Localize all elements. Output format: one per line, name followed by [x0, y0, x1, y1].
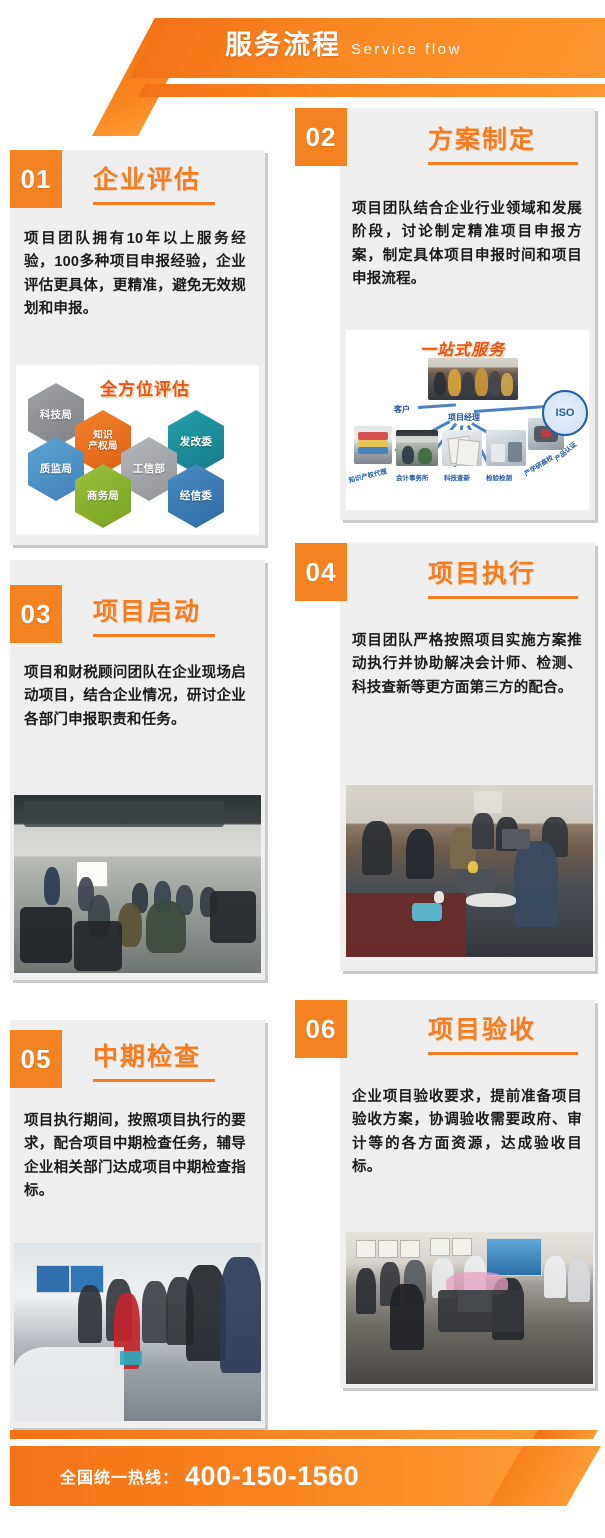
hex-diagram-title: 全方位评估 — [100, 375, 190, 400]
footer-hotline-number[interactable]: 400-150-1560 — [185, 1461, 359, 1492]
header-title-group: 服务流程 Service flow — [225, 32, 605, 76]
photo-certificate-3 — [430, 1238, 450, 1256]
hex-node-1-label: 知识产权局 — [88, 431, 117, 453]
page-footer: 全国统一热线： 400-150-1560 — [0, 1418, 605, 1538]
step-body-05: 项目执行期间，按照项目执行的要求，配合项目中期检查任务，辅导企业相关部门达成项目… — [24, 1110, 246, 1204]
step-body-02: 项目团队结合企业行业领域和发展阶段，讨论制定精准项目申报方案，制定具体项目申报时… — [352, 198, 582, 292]
one-stop-service-photo-3 — [486, 430, 526, 466]
step-title-03: 项目启动 — [93, 600, 201, 625]
one-stop-label-2: 科技查新 — [444, 472, 470, 482]
step-number-badge-02: 02 — [295, 108, 347, 166]
page-subtitle: Service flow — [351, 41, 462, 58]
header-accent-stripe — [138, 84, 605, 97]
step-title-underline-01 — [93, 202, 215, 205]
one-stop-service-photo-2 — [442, 430, 482, 466]
one-stop-node-customer: 客户 — [394, 404, 410, 415]
hexagon-assessment-diagram: 全方位评估 科技局 知识产权局 发改委 质监局 工信部 商务局 经信委 — [16, 365, 259, 535]
one-stop-label-4: 产学研高校 — [522, 452, 555, 478]
one-stop-label-1: 会计事务所 — [396, 472, 429, 482]
step-title-underline-04 — [428, 596, 578, 599]
footer-hotline-label: 全国统一热线： — [60, 1464, 179, 1488]
one-stop-service-diagram: 一站式服务 客户 项目经理 — [346, 330, 589, 510]
page-title: 服务流程 — [225, 32, 341, 59]
step-number-badge-03: 03 — [10, 585, 62, 643]
photo-team-working-meeting — [346, 785, 593, 957]
footer-thin-stripe — [10, 1430, 550, 1439]
photo-certificate-2 — [400, 1240, 420, 1258]
step-number-badge-05: 05 — [10, 1030, 62, 1088]
one-stop-title: 一站式服务 — [420, 336, 505, 360]
one-stop-arrow-customer — [418, 403, 456, 409]
one-stop-service-photo-1 — [396, 430, 438, 466]
step-title-05: 中期检查 — [93, 1045, 201, 1070]
footer-hotline-group: 全国统一热线： 400-150-1560 — [60, 1446, 359, 1506]
step-number-badge-04: 04 — [295, 543, 347, 601]
step-number-badge-01: 01 — [10, 150, 62, 208]
step-body-06: 企业项目验收要求，提前准备项目验收方案，协调验收需要政府、审计等的各方面资源，达… — [352, 1086, 582, 1180]
step-title-06: 项目验收 — [428, 1018, 536, 1043]
one-stop-node-manager: 项目经理 — [448, 412, 480, 423]
step-title-underline-02 — [428, 162, 578, 165]
step-body-04: 项目团队严格按照项目实施方案推动执行并协助解决会计师、检测、科技查新等更方面第三… — [352, 630, 582, 700]
photo-certificate-1 — [378, 1240, 398, 1258]
service-flow-infographic: 服务流程 Service flow 01 企业评估 项目团队拥有10年以上服务经… — [0, 0, 605, 1538]
photo-acceptance-boardroom — [346, 1232, 593, 1384]
footer-thin-stripe-skew — [533, 1430, 598, 1439]
step-title-underline-03 — [93, 634, 215, 637]
photo-presentation-screen — [486, 1238, 542, 1276]
step-title-01: 企业评估 — [93, 168, 201, 193]
photo-site-inspection-lobby — [14, 1243, 261, 1421]
step-title-02: 方案制定 — [428, 128, 536, 153]
step-title-underline-06 — [428, 1052, 578, 1055]
photo-laptop-boardroom — [458, 1290, 492, 1312]
one-stop-label-0: 知识产权代理 — [347, 465, 387, 484]
photo-certificate-4 — [452, 1238, 472, 1256]
step-body-01: 项目团队拥有10年以上服务经验，100多种项目申报经验，企业评估更具体，更精准，… — [24, 228, 246, 322]
step-number-badge-06: 06 — [295, 1000, 347, 1058]
step-title-underline-05 — [93, 1079, 215, 1082]
photo-conference-room-kickoff — [14, 795, 261, 973]
one-stop-center-photo — [428, 358, 518, 400]
one-stop-certification-seal: ISO — [542, 390, 588, 436]
step-title-04: 项目执行 — [428, 562, 536, 587]
photo-certificate-0 — [356, 1240, 376, 1258]
photo-laptop-1 — [502, 829, 530, 849]
one-stop-label-3: 检验检测 — [486, 472, 512, 482]
one-stop-arrow-5 — [474, 405, 546, 413]
one-stop-service-photo-0 — [354, 426, 392, 464]
photo-ceiling-panel — [24, 801, 224, 827]
photo-wall-screen-0 — [36, 1265, 70, 1293]
step-body-03: 项目和财税顾问团队在企业现场启动项目，结合企业情况，研讨企业各部门申报职责和任务… — [24, 662, 246, 732]
photo-ac-unit — [474, 791, 502, 813]
